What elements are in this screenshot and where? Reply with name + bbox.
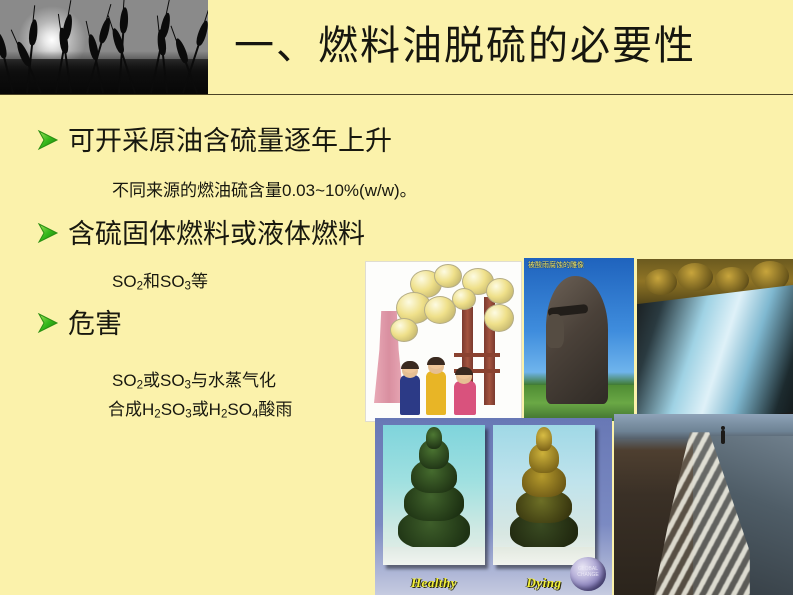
h2so3-prefix: 合成H: [108, 400, 154, 419]
so3-part: SO: [161, 400, 186, 419]
tree-card-healthy: [383, 425, 485, 565]
foliage: [715, 267, 749, 293]
foliage: [645, 269, 677, 295]
child-hair: [401, 361, 419, 369]
snow-ground: [383, 547, 485, 565]
person-silhouette: [721, 430, 725, 444]
photo-smokestack-pollution-cartoon: [365, 261, 522, 422]
green-arrow-icon: [36, 308, 62, 338]
formula-suffix: 等: [191, 272, 208, 291]
bullet-label-3: 危害: [68, 308, 122, 340]
smoke-puff: [390, 318, 418, 342]
bullet-label-1: 可开采原油含硫量逐年上升: [68, 125, 392, 157]
bullet-subtext-1: 不同来源的燃油硫含量0.03~10%(w/w)。: [112, 179, 417, 203]
smoke-puff: [486, 278, 514, 304]
globe-badge-text: GLOBAL CHANGE: [570, 566, 606, 578]
so3-formula-part: 或SO: [143, 371, 185, 390]
banner-photo-wheat-field: [0, 0, 208, 95]
tree-card-dying: [493, 425, 595, 565]
globe-badge-icon: GLOBAL CHANGE: [570, 557, 606, 591]
child-figure: [400, 375, 420, 415]
bullet-subtext-1-value: 不同来源的燃油硫含量0.03~10%(w/w)。: [112, 181, 417, 200]
bullet-item-3: 危害: [36, 308, 122, 340]
child-figure: [426, 371, 446, 415]
child-hair: [455, 367, 473, 375]
child-hair: [427, 357, 445, 365]
page-title: 一、燃料油脱硫的必要性: [234, 20, 696, 72]
photo-acid-rain-eroded-moai-statue: 被酸雨腐蚀的雕像: [524, 258, 634, 421]
photo-caption: 被酸雨腐蚀的雕像: [528, 260, 584, 270]
h2so4-prefix: 或H: [192, 400, 221, 419]
acid-rain-suffix: 酸雨: [258, 400, 292, 419]
river-water: [637, 284, 793, 421]
slide-canvas: 一、燃料油脱硫的必要性 可开采原油含硫量逐年上升 不: [0, 0, 793, 595]
foliage: [677, 263, 713, 291]
bullet-label-2: 含硫固体燃料或液体燃料: [68, 218, 365, 250]
photo-healthy-vs-dying-trees: Healthy Dying GLOBAL CHANGE: [375, 418, 612, 595]
chimney-crossbar: [454, 353, 500, 357]
green-arrow-icon: [36, 125, 62, 155]
label-healthy: Healthy: [383, 575, 485, 591]
bullet-item-2: 含硫固体燃料或液体燃料: [36, 218, 365, 250]
title-area: 一、燃料油脱硫的必要性: [208, 0, 793, 95]
smoke-puff: [452, 288, 476, 310]
moai-nose: [546, 314, 564, 348]
bullet-subtext-3-line1: SO2或SO3与水蒸气化: [112, 369, 276, 398]
image-collage: 被酸雨腐蚀的雕像: [365, 258, 793, 595]
formula-suffix: 与水蒸气化: [191, 371, 276, 390]
so3-formula-part: 和SO: [143, 272, 185, 291]
bullet-item-1: 可开采原油含硫量逐年上升: [36, 125, 392, 157]
so2-formula-part: SO: [112, 272, 137, 291]
smoke-puff: [434, 264, 462, 288]
photo-dead-fish-shoreline: [614, 414, 793, 595]
so4-part: SO: [227, 400, 252, 419]
bullet-subtext-3-line2: 合成H2SO3或H2SO4酸雨: [108, 398, 292, 427]
so2-formula-part: SO: [112, 371, 137, 390]
child-figure: [454, 381, 476, 415]
bullet-subtext-2: SO2和SO3等: [112, 270, 208, 299]
photo-polluted-river: [637, 259, 793, 421]
green-arrow-icon: [36, 218, 62, 248]
smoke-puff: [484, 304, 514, 332]
